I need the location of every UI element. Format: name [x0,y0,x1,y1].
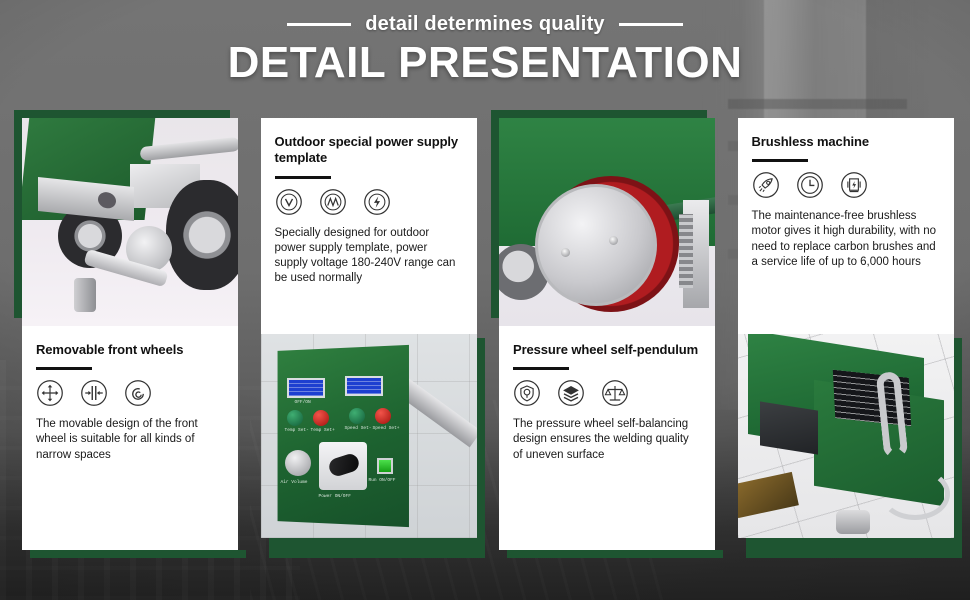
feature-column-2: Outdoor special power supply template [253,110,480,550]
panel-label-temp-set-minus: Temp Set- [285,428,309,433]
clock-icon [796,171,824,199]
page-title: DETAIL PRESENTATION [0,40,970,86]
feature-card-pressure-wheel: Pressure wheel self-pendulum [499,326,715,550]
card-description: Specially designed for outdoor power sup… [275,226,463,287]
motor-power-icon [840,171,868,199]
card-title: Brushless machine [752,134,940,150]
panel-label-run-on-off: Run ON/OFF [369,478,396,483]
feature-columns: Removable front wheels [14,110,956,550]
title-underline [275,176,331,179]
shield-icon [513,379,541,407]
kicker-rule-right [619,23,683,26]
card-title: Outdoor special power supply template [275,134,463,167]
panel-label-off-on: OFF/ON [295,400,311,405]
card-description: The pressure wheel self-balancing design… [513,417,701,463]
kicker-rule-left [287,23,351,26]
card-title: Pressure wheel self-pendulum [513,342,701,358]
card-description: The movable design of the front wheel is… [36,417,224,463]
feature-card-removable-front-wheels: Removable front wheels [22,326,238,550]
balance-scale-icon [601,379,629,407]
welding-machine-photo [738,334,954,538]
removable-front-wheels-photo [22,118,238,326]
column-foot-accent [30,550,246,558]
detail-presentation-page: detail determines quality DETAIL PRESENT… [0,0,970,600]
column-foot-accent [269,550,485,558]
voltage-icon [275,188,303,216]
layers-icon [557,379,585,407]
panel-label-air-volume: Air Volume [281,480,308,485]
feature-column-1: Removable front wheels [14,110,241,550]
waveform-icon [319,188,347,216]
feature-column-3: Pressure wheel self-pendulum [491,110,718,550]
lightning-bolt-icon [363,188,391,216]
feature-card-outdoor-power-supply: Outdoor special power supply template [261,118,477,334]
title-underline [513,367,569,370]
feature-card-brushless-machine: Brushless machine [738,118,954,334]
card-icon-row [752,171,940,199]
pressure-wheel-photo [499,118,715,326]
panel-label-speed-set-minus: Speed Set- [345,426,372,431]
card-icon-row [513,379,701,407]
control-panel-photo: Temp Set- Temp Set+ Speed Set- Speed Set… [261,334,477,538]
title-underline [752,159,808,162]
header-kicker: detail determines quality [0,0,970,36]
panel-label-speed-set-plus: Speed Set+ [373,426,400,431]
panel-label-power-on-off: Power ON/OFF [319,494,351,499]
card-icon-row [36,379,224,407]
panel-label-temp-set-plus: Temp Set+ [311,428,335,433]
rocket-icon [752,171,780,199]
card-title: Removable front wheels [36,342,224,358]
page-header: detail determines quality DETAIL PRESENT… [0,0,970,108]
kicker-text: detail determines quality [365,13,605,36]
title-underline [36,367,92,370]
card-description: The maintenance-free brushless motor giv… [752,209,940,270]
column-foot-accent [507,550,723,558]
column-foot-accent [746,550,962,558]
rotate-spiral-icon [124,379,152,407]
feature-column-4: Brushless machine [730,110,957,550]
card-icon-row [275,188,463,216]
move-arrows-icon [36,379,64,407]
compress-horizontal-icon [80,379,108,407]
